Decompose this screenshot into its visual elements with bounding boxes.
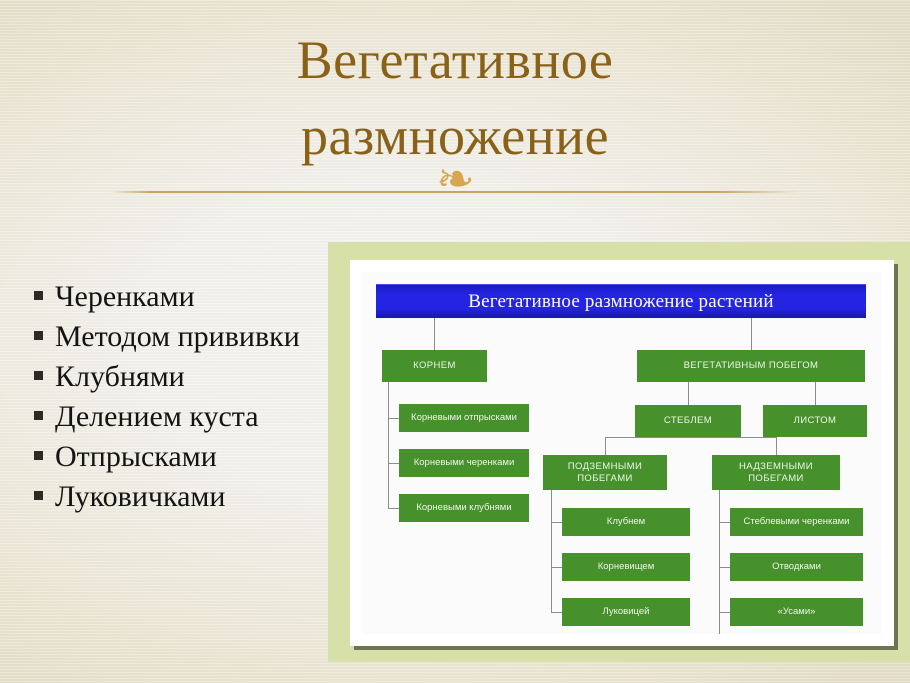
connector bbox=[434, 318, 435, 350]
diagram-picture-frame: Вегетативное размножение растений КОРНЕМ… bbox=[328, 242, 910, 662]
list-item: Методом прививки bbox=[28, 318, 328, 356]
diagram-node-k3: Корневыми клубнями bbox=[399, 494, 529, 522]
bullet-square-icon bbox=[34, 451, 43, 460]
diagram-node-p2: Корневищем bbox=[562, 553, 690, 581]
connector bbox=[719, 522, 730, 523]
diagram-node-list: ЛИСТОМ bbox=[763, 405, 867, 437]
list-item-label: Отпрысками bbox=[55, 438, 217, 476]
connector bbox=[688, 382, 689, 405]
bullet-square-icon bbox=[34, 491, 43, 500]
diagram-node-pod: ПОДЗЕМНЫМИ ПОБЕГАМИ bbox=[543, 455, 667, 490]
connector bbox=[776, 437, 777, 455]
bullet-square-icon bbox=[34, 291, 43, 300]
bullet-square-icon bbox=[34, 411, 43, 420]
connector bbox=[605, 437, 688, 438]
diagram-node-p3: Луковицей bbox=[562, 598, 690, 626]
connector bbox=[719, 567, 730, 568]
ornament-glyph: ❧ bbox=[436, 158, 475, 202]
bullet-square-icon bbox=[34, 371, 43, 380]
diagram-node-n2: Отводками bbox=[730, 553, 863, 581]
diagram-node-root: Вегетативное размножение растений bbox=[376, 284, 866, 318]
diagram-node-k2: Корневыми черенками bbox=[399, 449, 529, 477]
list-item: Клубнями bbox=[28, 358, 328, 396]
connector bbox=[719, 612, 730, 613]
slide-canvas: Вегетативное размножение ❧ Черенками Мет… bbox=[0, 0, 910, 683]
connector bbox=[551, 612, 562, 613]
connector bbox=[605, 437, 606, 455]
list-item-label: Клубнями bbox=[55, 358, 185, 396]
diagram-picture-mat: Вегетативное размножение растений КОРНЕМ… bbox=[350, 260, 894, 646]
vegetative-propagation-diagram: Вегетативное размножение растений КОРНЕМ… bbox=[362, 272, 882, 634]
connector bbox=[688, 437, 776, 438]
bullet-square-icon bbox=[34, 331, 43, 340]
list-item-label: Методом прививки bbox=[55, 318, 300, 356]
connector bbox=[551, 490, 552, 612]
list-item: Делением куста bbox=[28, 398, 328, 436]
page-title: Вегетативное размножение bbox=[0, 22, 910, 174]
connector bbox=[551, 522, 562, 523]
connector bbox=[751, 318, 752, 350]
diagram-node-n1: Стеблевыми черенками bbox=[730, 508, 863, 536]
connector bbox=[815, 382, 816, 405]
list-item-label: Луковичками bbox=[55, 478, 225, 516]
list-item: Луковичками bbox=[28, 478, 328, 516]
diagram-node-n3: «Усами» bbox=[730, 598, 863, 626]
connector bbox=[388, 418, 399, 419]
title-line-1: Вегетативное bbox=[0, 22, 910, 98]
connector bbox=[388, 382, 389, 509]
diagram-node-steb: СТЕБЛЕМ bbox=[635, 405, 741, 437]
diagram-node-veg: ВЕГЕТАТИВНЫМ ПОБЕГОМ bbox=[637, 350, 865, 382]
bullet-list: Черенками Методом прививки Клубнями Деле… bbox=[28, 278, 328, 518]
connector bbox=[388, 463, 399, 464]
connector bbox=[551, 567, 562, 568]
diagram-node-korn: КОРНЕМ bbox=[382, 350, 487, 382]
ornament-flourish-icon: ❧ bbox=[0, 158, 910, 202]
list-item: Черенками bbox=[28, 278, 328, 316]
connector bbox=[388, 508, 399, 509]
diagram-node-p1: Клубнем bbox=[562, 508, 690, 536]
list-item-label: Черенками bbox=[55, 278, 195, 316]
diagram-node-nad: НАДЗЕМНЫМИ ПОБЕГАМИ bbox=[712, 455, 840, 490]
list-item-label: Делением куста bbox=[55, 398, 259, 436]
diagram-node-k1: Корневыми отпрысками bbox=[399, 404, 529, 432]
list-item: Отпрысками bbox=[28, 438, 328, 476]
